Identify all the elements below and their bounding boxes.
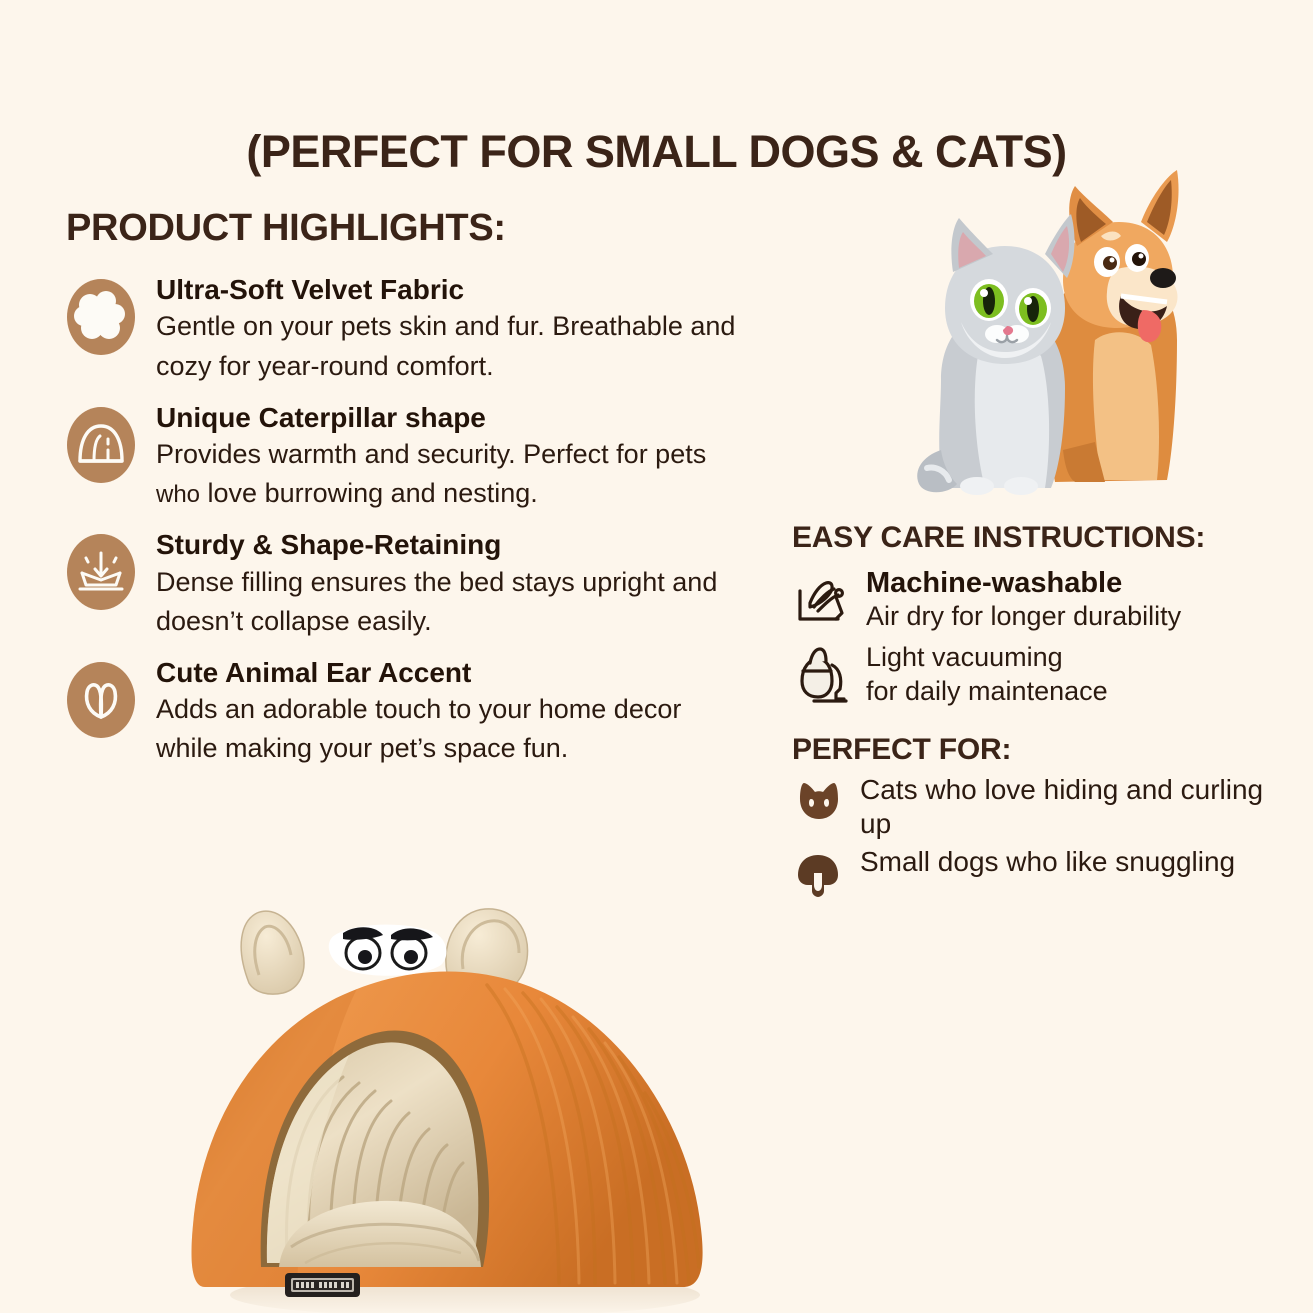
highlight-item: Unique Caterpillar shape Provides warmth… (66, 400, 746, 514)
highlight-item: Sturdy & Shape-Retaining Dense filling e… (66, 527, 746, 641)
vacuum-cleaner-icon (792, 641, 854, 709)
cat-and-dog-illustration (905, 150, 1195, 510)
highlight-description: Adds an adorable touch to your home deco… (156, 690, 746, 768)
perfect-for-item: Small dogs who like snuggling (792, 845, 1292, 899)
care-subtitle: Air dry for longer durability (866, 600, 1292, 634)
care-item: Light vacuuming for daily maintenace (792, 641, 1292, 709)
highlight-body: Cute Animal Ear Accent Adds an adorable … (156, 655, 746, 769)
highlight-title: Ultra-Soft Velvet Fabric (156, 274, 746, 305)
animal-ears-icon (66, 661, 136, 739)
highlight-description: Dense filling ensures the bed stays upri… (156, 563, 746, 641)
dome-shape-icon (66, 406, 136, 484)
highlight-title: Sturdy & Shape-Retaining (156, 529, 746, 560)
bed-eyes-patch (329, 925, 447, 976)
perfect-for-item: Cats who love hiding and curling up (792, 773, 1292, 841)
perfect-for-text: Small dogs who like snuggling (860, 845, 1235, 879)
pet-bed-photo (175, 895, 730, 1313)
highlight-title-emphasis: Caterpillar shape (259, 402, 486, 433)
product-highlights-heading: PRODUCT HIGHLIGHTS: (66, 207, 746, 250)
desc-part-a: Provides warmth and security. Perfect fo… (156, 439, 706, 469)
care-body: Light vacuuming for daily maintenace (866, 641, 1292, 709)
cat-face-icon (792, 779, 844, 827)
desc-part-small: who (156, 481, 200, 508)
highlight-title: Unique Caterpillar shape (156, 402, 746, 433)
care-line-1: Light vacuuming (866, 641, 1292, 675)
easy-care-heading: EASY CARE INSTRUCTIONS: (792, 521, 1292, 555)
cotton-ball-icon (66, 278, 136, 356)
highlight-title-prefix: Unique (156, 402, 259, 433)
highlight-title: Cute Animal Ear Accent (156, 657, 746, 688)
highlight-description: Provides warmth and security. Perfect fo… (156, 435, 746, 513)
dog-face-icon (792, 851, 844, 899)
cat-figure (917, 214, 1074, 495)
highlight-body: Sturdy & Shape-Retaining Dense filling e… (156, 527, 746, 641)
right-column: EASY CARE INSTRUCTIONS: Machine-washable (792, 521, 1292, 903)
desc-part-b: love burrowing and nesting. (200, 478, 538, 508)
perfect-for-text: Cats who love hiding and curling up (860, 773, 1292, 841)
care-line-2: for daily maintenace (866, 675, 1292, 709)
highlight-description: Gentle on your pets skin and fur. Breath… (156, 307, 746, 385)
care-item: Machine-washable Air dry for longer dura… (792, 567, 1292, 635)
highlight-body: Unique Caterpillar shape Provides warmth… (156, 400, 746, 514)
care-title: Machine-washable (866, 567, 1292, 600)
compression-resistance-icon (66, 533, 136, 611)
perfect-for-heading: PERFECT FOR: (792, 733, 1292, 767)
care-body: Machine-washable Air dry for longer dura… (866, 567, 1292, 634)
hand-wash-icon (792, 567, 854, 635)
infographic-canvas: (PERFECT FOR SMALL DOGS & CATS) PRODUCT … (0, 0, 1313, 1313)
highlight-item: Cute Animal Ear Accent Adds an adorable … (66, 655, 746, 769)
highlight-item: Ultra-Soft Velvet Fabric Gentle on your … (66, 272, 746, 386)
bed-ear-left (241, 911, 304, 994)
product-highlights-section: PRODUCT HIGHLIGHTS: (66, 207, 746, 783)
highlight-body: Ultra-Soft Velvet Fabric Gentle on your … (156, 272, 746, 386)
brand-label (285, 1273, 360, 1297)
